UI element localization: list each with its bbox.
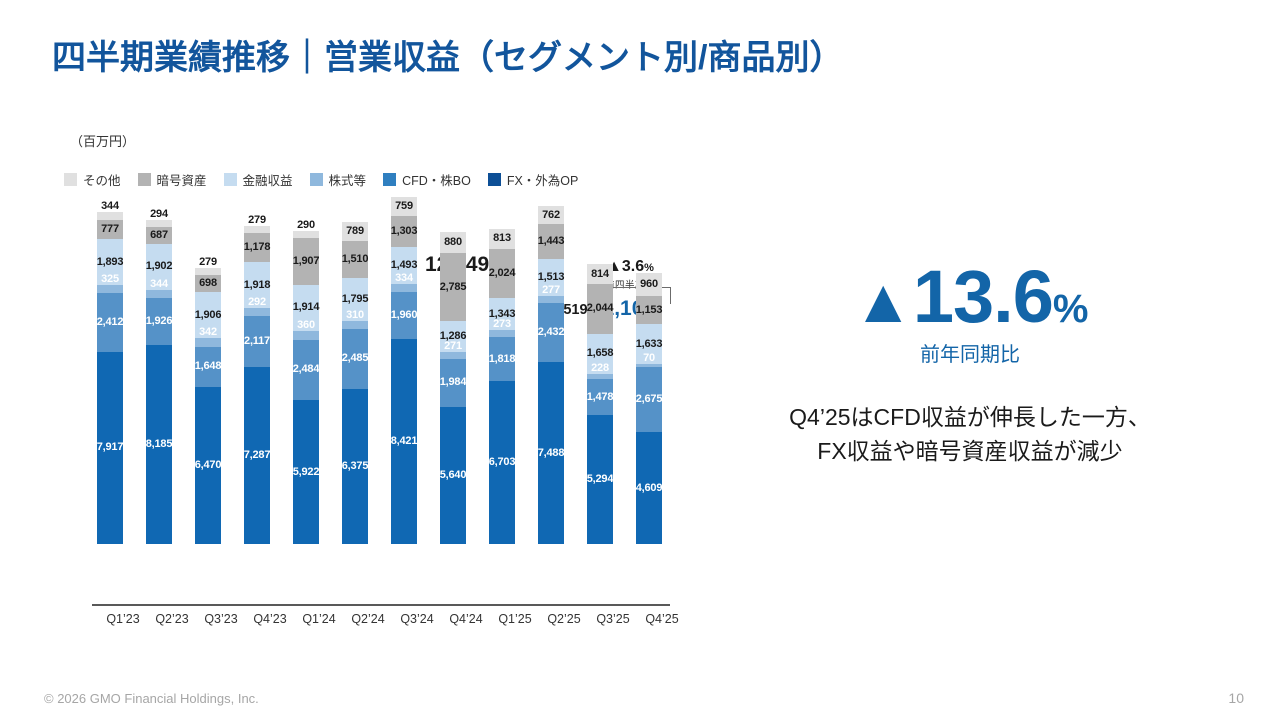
bar-segment[interactable]: 789 bbox=[342, 222, 368, 241]
bar-segment-value-label: 6,470 bbox=[195, 460, 222, 471]
bar-segment[interactable]: 1,960 bbox=[391, 292, 417, 340]
chart-baseline bbox=[92, 604, 670, 606]
bar-segment-value-label: 325 bbox=[101, 274, 119, 285]
bar-stack[interactable]: 8142,0441,6582281,4785,294 bbox=[587, 264, 613, 544]
x-axis-label: Q3’24 bbox=[391, 612, 443, 626]
bar-segment-value-label: 360 bbox=[297, 320, 315, 331]
bar-segment[interactable]: 698 bbox=[195, 275, 221, 292]
x-axis-label: Q3’23 bbox=[195, 612, 247, 626]
bar-segment[interactable]: 1,153 bbox=[636, 296, 662, 324]
bar-segment[interactable]: 960 bbox=[636, 273, 662, 296]
bar-segment-value-label: 273 bbox=[493, 319, 511, 330]
bar-segment[interactable]: 1,178 bbox=[244, 233, 270, 262]
bar-segment-value-label: 5,922 bbox=[293, 467, 320, 478]
bar-segment-value-label: 687 bbox=[150, 230, 168, 241]
bar-segment-value-label: 6,375 bbox=[342, 461, 369, 472]
bar-segment-value-label: 6,703 bbox=[489, 457, 516, 468]
bar-segment[interactable]: 759 bbox=[391, 197, 417, 215]
bar-segment-value-label: 1,960 bbox=[391, 310, 418, 321]
bar-segment[interactable]: 273 bbox=[489, 330, 515, 337]
bar-segment-value-label: 5,640 bbox=[440, 470, 467, 481]
bar-segment-value-label: 294 bbox=[150, 209, 168, 220]
bar-stack[interactable]: 7621,4431,5132772,4327,488 bbox=[538, 206, 564, 544]
x-axis-label: Q4’24 bbox=[440, 612, 492, 626]
bar-segment-value-label: 228 bbox=[591, 363, 609, 374]
x-axis-label: Q3’25 bbox=[587, 612, 639, 626]
bar-segment[interactable]: 7,488 bbox=[538, 362, 564, 544]
bar-segment[interactable]: 344 bbox=[97, 212, 123, 220]
bar-segment[interactable]: 2,675 bbox=[636, 367, 662, 432]
bar-segment[interactable]: 2,412 bbox=[97, 293, 123, 352]
bar-segment-value-label: 1,153 bbox=[636, 305, 663, 316]
x-axis-label: Q1’23 bbox=[97, 612, 149, 626]
bar-segment[interactable]: 1,648 bbox=[195, 347, 221, 387]
commentary-line-1: Q4’25はCFD収益が伸長した一方、 bbox=[740, 401, 1200, 434]
bar-segment-value-label: 2,412 bbox=[97, 317, 124, 328]
bar-stack[interactable]: 2946871,9023441,9268,185 bbox=[146, 220, 172, 544]
x-axis-label: Q1’24 bbox=[293, 612, 345, 626]
bar-segment-value-label: 789 bbox=[346, 226, 364, 237]
bar-segment-value-label: 7,488 bbox=[538, 448, 565, 459]
bar-segment[interactable]: 2,117 bbox=[244, 316, 270, 367]
bar-segment-value-label: 1,914 bbox=[293, 302, 320, 313]
bar-segment-value-label: 70 bbox=[643, 353, 655, 364]
bar-segment-value-label: 960 bbox=[640, 279, 658, 290]
bar-segment[interactable]: 1,478 bbox=[587, 379, 613, 415]
bar-segment[interactable]: 360 bbox=[293, 331, 319, 340]
bar-segment-value-label: 1,510 bbox=[342, 254, 369, 265]
bar-segment[interactable]: 8,185 bbox=[146, 345, 172, 544]
bar-segment[interactable]: 325 bbox=[97, 285, 123, 293]
bar-segment[interactable]: 6,375 bbox=[342, 389, 368, 544]
bar-segment[interactable]: 1,907 bbox=[293, 238, 319, 284]
bar-stack[interactable]: 7591,3031,4933341,9608,421 bbox=[391, 197, 417, 544]
bar-segment[interactable]: 777 bbox=[97, 220, 123, 239]
footer-page-number: 10 bbox=[1228, 690, 1244, 706]
footer-copyright: © 2026 GMO Financial Holdings, Inc. bbox=[44, 691, 259, 706]
bar-segment-value-label: 2,785 bbox=[440, 282, 467, 293]
bar-segment-value-label: 1,303 bbox=[391, 226, 418, 237]
bar-segment[interactable]: 292 bbox=[244, 308, 270, 315]
bar-segment-value-label: 1,907 bbox=[293, 256, 320, 267]
bar-segment-value-label: 1,178 bbox=[244, 242, 271, 253]
x-axis-label: Q2’24 bbox=[342, 612, 394, 626]
bar-segment-value-label: 310 bbox=[346, 310, 364, 321]
bar-segment-value-label: 1,818 bbox=[489, 354, 516, 365]
bar-segment-value-label: 1,795 bbox=[342, 294, 369, 305]
bar-segment-value-label: 2,485 bbox=[342, 353, 369, 364]
bar-segment-value-label: 1,478 bbox=[587, 392, 614, 403]
bar-segment[interactable]: 687 bbox=[146, 227, 172, 244]
bar-segment[interactable]: 342 bbox=[195, 338, 221, 346]
bar-segment[interactable]: 5,922 bbox=[293, 400, 319, 544]
bar-stack[interactable]: 3447771,8933252,4127,917 bbox=[97, 212, 123, 544]
bar-segment-value-label: 1,633 bbox=[636, 339, 663, 350]
bar-segment[interactable]: 294 bbox=[146, 220, 172, 227]
bar-segment[interactable]: 7,917 bbox=[97, 352, 123, 544]
bar-segment-value-label: 5,294 bbox=[587, 474, 614, 485]
bar-segment-value-label: 271 bbox=[444, 341, 462, 352]
x-axis-label: Q2’23 bbox=[146, 612, 198, 626]
bar-segment[interactable]: 2,044 bbox=[587, 284, 613, 334]
bar-segment-value-label: 1,648 bbox=[195, 361, 222, 372]
bar-segment-value-label: 344 bbox=[101, 201, 119, 212]
bar-segment-value-label: 1,493 bbox=[391, 260, 418, 271]
x-axis-label: Q4’25 bbox=[636, 612, 688, 626]
bar-segment-value-label: 1,906 bbox=[195, 310, 222, 321]
bar-segment-value-label: 698 bbox=[199, 278, 217, 289]
commentary-line-2: FX収益や暗号資産収益が減少 bbox=[740, 435, 1200, 468]
bar-segment-value-label: 814 bbox=[591, 269, 609, 280]
bar-segment-value-label: 1,658 bbox=[587, 348, 614, 359]
bar-segment-value-label: 8,421 bbox=[391, 436, 418, 447]
bar-segment-value-label: 277 bbox=[542, 285, 560, 296]
bar-segment[interactable]: 5,294 bbox=[587, 415, 613, 544]
bar-segment-value-label: 4,609 bbox=[636, 483, 663, 494]
x-axis-label: Q4’23 bbox=[244, 612, 296, 626]
bar-segment-value-label: 880 bbox=[444, 237, 462, 248]
bar-segment-value-label: 342 bbox=[199, 327, 217, 338]
bar-segment[interactable]: 5,640 bbox=[440, 407, 466, 544]
bar-segment-value-label: 777 bbox=[101, 224, 119, 235]
bar-segment[interactable]: 2,484 bbox=[293, 340, 319, 400]
bar-segment-value-label: 1,984 bbox=[440, 377, 467, 388]
percent-unit: % bbox=[1053, 287, 1088, 331]
down-triangle-icon: ▲ bbox=[853, 267, 913, 336]
bar-segment[interactable]: 762 bbox=[538, 206, 564, 225]
bar-segment-value-label: 1,443 bbox=[538, 236, 565, 247]
kpi-panel: ▲13.6% 前年同期比 Q4’25はCFD収益が伸長した一方、 FX収益や暗号… bbox=[740, 262, 1200, 468]
bar-segment[interactable]: 310 bbox=[342, 321, 368, 329]
bar-segment[interactable]: 813 bbox=[489, 229, 515, 249]
x-axis-label: Q1’25 bbox=[489, 612, 541, 626]
bar-stack[interactable]: 2796981,9063421,6486,470 bbox=[195, 268, 221, 544]
bar-segment[interactable]: 2,024 bbox=[489, 249, 515, 298]
bar-stack[interactable]: 8132,0241,3432731,8186,703 bbox=[489, 229, 515, 544]
bar-segment-value-label: 762 bbox=[542, 210, 560, 221]
bar-segment-value-label: 7,917 bbox=[97, 442, 124, 453]
bar-segment-value-label: 2,024 bbox=[489, 268, 516, 279]
bar-segment[interactable]: 1,303 bbox=[391, 216, 417, 248]
bar-segment-value-label: 279 bbox=[248, 215, 266, 226]
bar-segment-value-label: 2,044 bbox=[587, 303, 614, 314]
bar-segment-value-label: 292 bbox=[248, 297, 266, 308]
bar-segment[interactable]: 1,510 bbox=[342, 241, 368, 278]
bar-segment-value-label: 1,926 bbox=[146, 316, 173, 327]
x-axis-label: Q2’25 bbox=[538, 612, 590, 626]
bar-segment[interactable]: 8,421 bbox=[391, 339, 417, 544]
bar-segment[interactable]: 279 bbox=[244, 226, 270, 233]
bar-segment[interactable]: 880 bbox=[440, 232, 466, 253]
bar-segment-value-label: 8,185 bbox=[146, 439, 173, 450]
yoy-headline-subtitle: 前年同期比 bbox=[740, 338, 1200, 367]
commentary-text: Q4’25はCFD収益が伸長した一方、 FX収益や暗号資産収益が減少 bbox=[740, 401, 1200, 468]
bar-stack[interactable]: 2901,9071,9143602,4845,922 bbox=[293, 231, 319, 544]
bar-segment-value-label: 344 bbox=[150, 279, 168, 290]
bar-segment-value-label: 2,117 bbox=[244, 336, 270, 347]
bar-segment-value-label: 2,432 bbox=[538, 327, 565, 338]
bar-stack[interactable]: 9601,1531,633702,6754,609 bbox=[636, 273, 662, 544]
bar-segment-value-label: 2,484 bbox=[293, 364, 320, 375]
bar-segment-value-label: 279 bbox=[199, 257, 217, 268]
bar-segment[interactable]: 2,485 bbox=[342, 329, 368, 389]
bar-segment[interactable]: 6,470 bbox=[195, 387, 221, 544]
bar-segment[interactable]: 1,818 bbox=[489, 337, 515, 381]
stacked-bar-chart: 12,849 11,519 11,104 ▲3.6% 前四半期比 3447771… bbox=[0, 0, 700, 660]
bar-segment-value-label: 1,902 bbox=[146, 261, 173, 272]
bar-segment[interactable]: 2,432 bbox=[538, 303, 564, 362]
bar-segment-value-label: 759 bbox=[395, 201, 413, 212]
bar-segment-value-label: 1,513 bbox=[538, 272, 565, 283]
bar-segment[interactable]: 271 bbox=[440, 352, 466, 359]
bar-segment[interactable]: 4,609 bbox=[636, 432, 662, 544]
bar-segment-value-label: 290 bbox=[297, 220, 315, 231]
bar-segment[interactable]: 290 bbox=[293, 231, 319, 238]
bar-segment-value-label: 1,893 bbox=[97, 257, 124, 268]
bar-segment[interactable]: 1,984 bbox=[440, 359, 466, 407]
bar-segment-value-label: 334 bbox=[395, 273, 413, 284]
bar-segment-value-label: 2,675 bbox=[636, 394, 663, 405]
bar-segment[interactable]: 334 bbox=[391, 284, 417, 292]
yoy-headline-value: ▲13.6% bbox=[740, 262, 1200, 332]
bar-segment[interactable]: 814 bbox=[587, 264, 613, 284]
bar-segment[interactable]: 1,926 bbox=[146, 298, 172, 345]
bar-stack[interactable]: 8802,7851,2862711,9845,640 bbox=[440, 232, 466, 544]
bar-segment[interactable]: 344 bbox=[146, 290, 172, 298]
bar-segment-value-label: 7,287 bbox=[244, 450, 271, 461]
bar-segment[interactable]: 1,443 bbox=[538, 224, 564, 259]
bar-segment-value-label: 1,918 bbox=[244, 280, 271, 291]
bar-stack[interactable]: 2791,1781,9182922,1177,287 bbox=[244, 226, 270, 544]
bar-segment[interactable]: 277 bbox=[538, 296, 564, 303]
bar-segment[interactable]: 6,703 bbox=[489, 381, 515, 544]
bar-segment[interactable]: 279 bbox=[195, 268, 221, 275]
bar-stack[interactable]: 7891,5101,7953102,4856,375 bbox=[342, 222, 368, 544]
bar-segment[interactable]: 2,785 bbox=[440, 253, 466, 321]
bar-segment-value-label: 813 bbox=[493, 233, 511, 244]
bar-segment[interactable]: 7,287 bbox=[244, 367, 270, 544]
